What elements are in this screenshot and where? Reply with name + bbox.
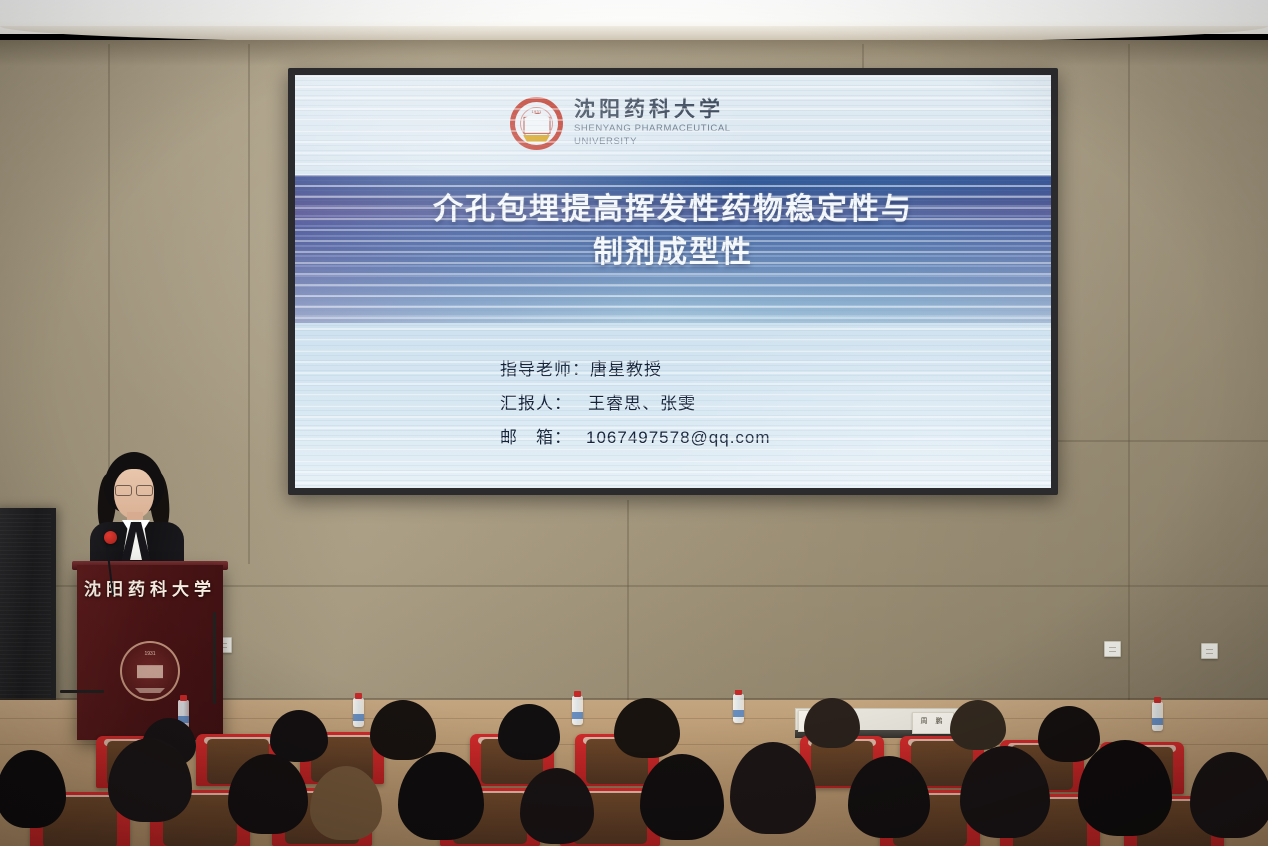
university-crest-icon: 1931 [510,97,563,150]
wall-seam [627,500,629,700]
university-name-en-line1: SHENYANG PHARMACEUTICAL [574,123,731,136]
lecture-hall-photo: 1931 沈阳药科大学 SHENYANG PHARMACEUTICAL UNIV… [0,0,1268,846]
email-label: 邮 箱： [500,421,572,455]
audience-head [228,754,308,834]
university-logo: 1931 沈阳药科大学 SHENYANG PHARMACEUTICAL UNIV… [510,97,731,150]
speaker-grille [0,514,51,700]
microphone-icon [104,531,117,544]
wall-outlet[interactable] [1104,641,1121,657]
wall-seam [1128,44,1130,700]
name-placard: 周 鹏 [912,712,954,734]
university-name-cn: 沈阳药科大学 [574,99,731,120]
audience-head [1038,706,1100,762]
wall-outlet[interactable] [1201,643,1218,659]
credit-row-advisor: 指导老师：唐星教授 [500,353,771,387]
slide-credits: 指导老师：唐星教授 汇报人：王睿思、张雯 邮 箱：1067497578@qq.c… [500,353,771,455]
audience-head [640,754,724,840]
placard-text: 周 鹏 [913,716,953,726]
wall-seam [1058,440,1268,442]
water-bottle [353,698,364,727]
slide-title-line2: 制剂成型性 [295,232,1051,275]
slide-title-line1: 介孔包埋提高挥发性药物稳定性与 [295,189,1051,232]
audience-head [1190,752,1268,838]
advisor-value: 唐星教授 [590,353,662,387]
wall-seam [862,44,864,68]
audience-head [270,710,328,762]
email-value: 1067497578@qq.com [586,421,771,455]
pa-speaker-cabinet [0,508,56,706]
audience-head [614,698,680,758]
audience-area: 首 周 鹏 [0,690,1268,846]
slide-title: 介孔包埋提高挥发性药物稳定性与 制剂成型性 [295,189,1051,274]
podium-name-plate: 沈阳药科大学 [77,575,223,600]
glasses-icon [115,485,153,494]
podium-seal-year: 1931 [144,651,155,657]
presenter-label: 汇报人： [500,387,572,421]
water-bottle [733,694,744,723]
wall-seam [248,44,250,564]
audience-head [950,700,1006,750]
advisor-label: 指导老师： [500,353,590,387]
credit-row-email: 邮 箱：1067497578@qq.com [500,421,771,455]
audience-head [498,704,560,760]
slide-title-band: 介孔包埋提高挥发性药物稳定性与 制剂成型性 [295,175,1051,323]
water-bottle [1152,702,1163,731]
credit-row-presenter: 汇报人：王睿思、张雯 [500,387,771,421]
led-display-screen: 1931 沈阳药科大学 SHENYANG PHARMACEUTICAL UNIV… [295,75,1051,488]
water-bottle [572,696,583,725]
audience-head [804,698,860,748]
audience-head [0,750,66,828]
led-display-bezel: 1931 沈阳药科大学 SHENYANG PHARMACEUTICAL UNIV… [288,68,1058,495]
presenter-value: 王睿思、张雯 [588,387,696,421]
audience-head [370,700,436,760]
wall-top-shadow [0,40,1268,66]
logo-text-block: 沈阳药科大学 SHENYANG PHARMACEUTICAL UNIVERSIT… [574,99,731,148]
university-name-en-line2: UNIVERSITY [574,136,731,149]
